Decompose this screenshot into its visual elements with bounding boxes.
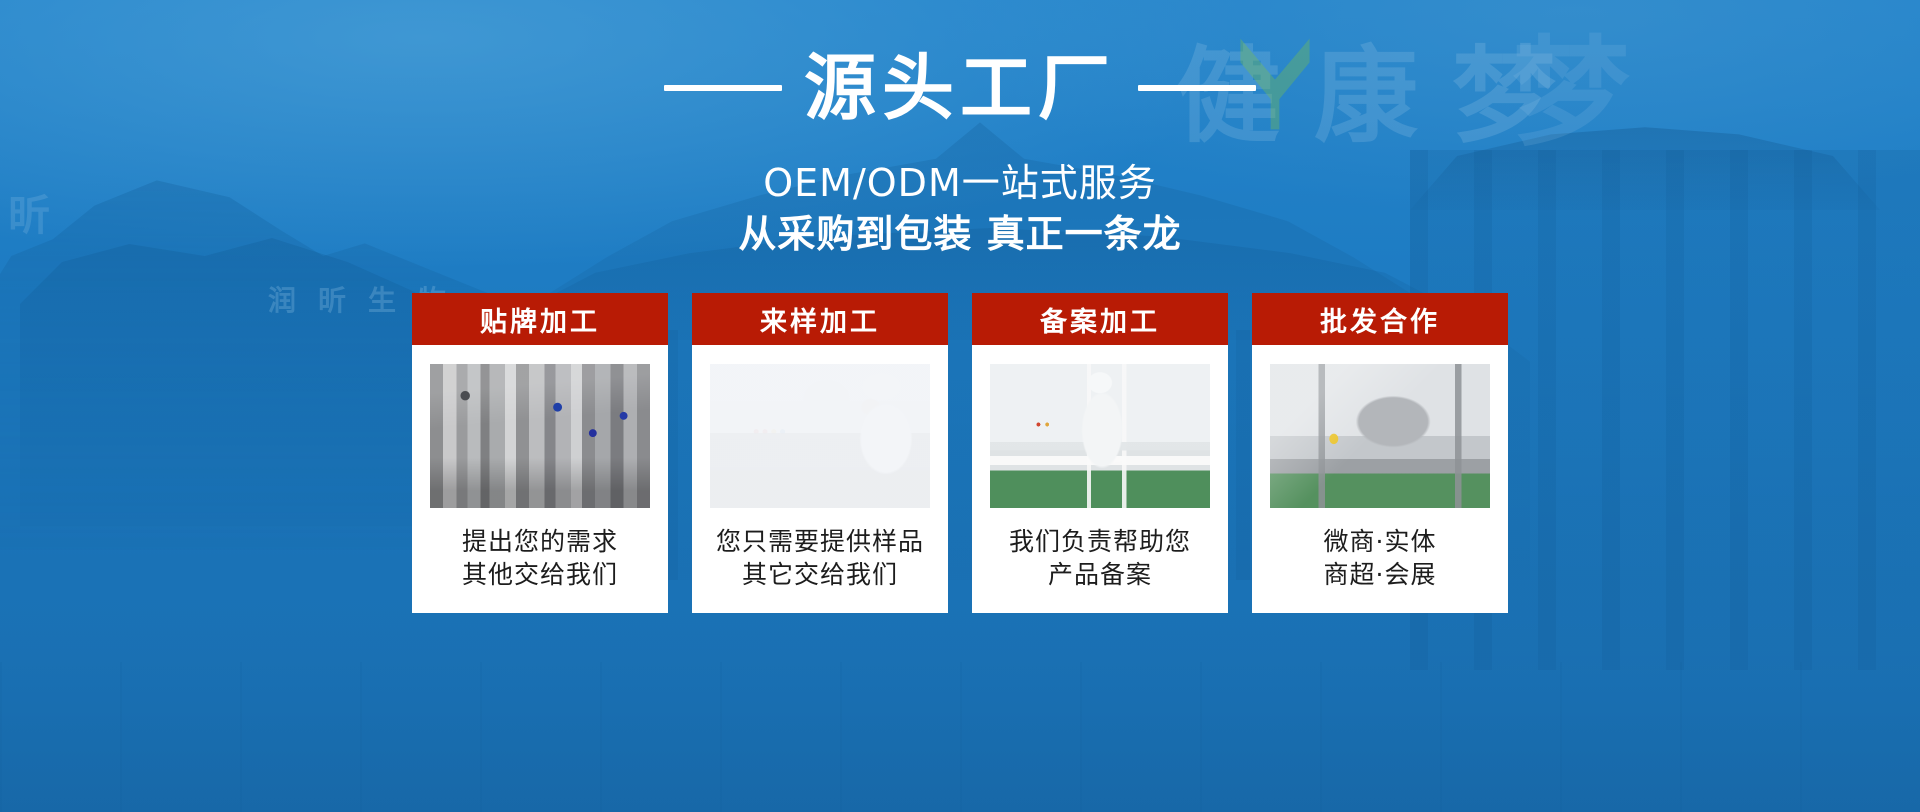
service-card-sample[interactable]: 来样加工 您只需要提供样品 其它交给我们 — [692, 293, 948, 613]
card-title-oem: 贴牌加工 — [412, 293, 668, 345]
cleanroom-lab-photo — [990, 364, 1210, 508]
card-caption-oem: 提出您的需求 其他交给我们 — [462, 525, 618, 591]
headline-row: 源头工厂 — [0, 52, 1920, 124]
service-card-oem[interactable]: 贴牌加工 提出您的需求 其他交给我们 — [412, 293, 668, 613]
card-caption-wholesale-line2: 商超·会展 — [1324, 558, 1437, 591]
card-caption-wholesale: 微商·实体 商超·会展 — [1324, 525, 1437, 591]
card-caption-oem-line1: 提出您的需求 — [462, 525, 618, 558]
page-title: 源头工厂 — [804, 52, 1116, 124]
card-title-registration: 备案加工 — [972, 293, 1228, 345]
background-ground-paving — [0, 662, 1920, 812]
card-title-sample: 来样加工 — [692, 293, 948, 345]
subtitle-line-1: OEM/ODM一站式服务 — [0, 152, 1920, 207]
card-caption-sample-line2: 其它交给我们 — [716, 558, 924, 591]
service-card-row: 贴牌加工 提出您的需求 其他交给我们 来样加工 您只需要提供样品 其它交给我们 … — [0, 293, 1920, 613]
card-caption-registration: 我们负责帮助您 产品备案 — [1009, 525, 1191, 591]
card-caption-registration-line1: 我们负责帮助您 — [1009, 525, 1191, 558]
service-card-wholesale[interactable]: 批发合作 微商·实体 商超·会展 — [1252, 293, 1508, 613]
packaging-machine-photo — [710, 364, 930, 508]
card-caption-oem-line2: 其他交给我们 — [462, 558, 618, 591]
headline-rule-left — [664, 85, 782, 91]
card-caption-sample-line1: 您只需要提供样品 — [716, 525, 924, 558]
promo-banner: 梦 健康梦 昕 润昕生物 源头工厂 OEM/ODM一站式服务 从采购到包装 真正… — [0, 0, 1920, 812]
card-caption-sample: 您只需要提供样品 其它交给我们 — [716, 525, 924, 591]
card-title-wholesale: 批发合作 — [1252, 293, 1508, 345]
card-caption-registration-line2: 产品备案 — [1009, 558, 1191, 591]
headline-rule-right — [1138, 85, 1256, 91]
card-caption-wholesale-line1: 微商·实体 — [1324, 525, 1437, 558]
double-cone-mixer-photo — [1270, 364, 1490, 508]
service-card-registration[interactable]: 备案加工 我们负责帮助您 产品备案 — [972, 293, 1228, 613]
stainless-steel-tanks-photo — [430, 364, 650, 508]
subtitle-line-2: 从采购到包装 真正一条龙 — [0, 203, 1920, 258]
